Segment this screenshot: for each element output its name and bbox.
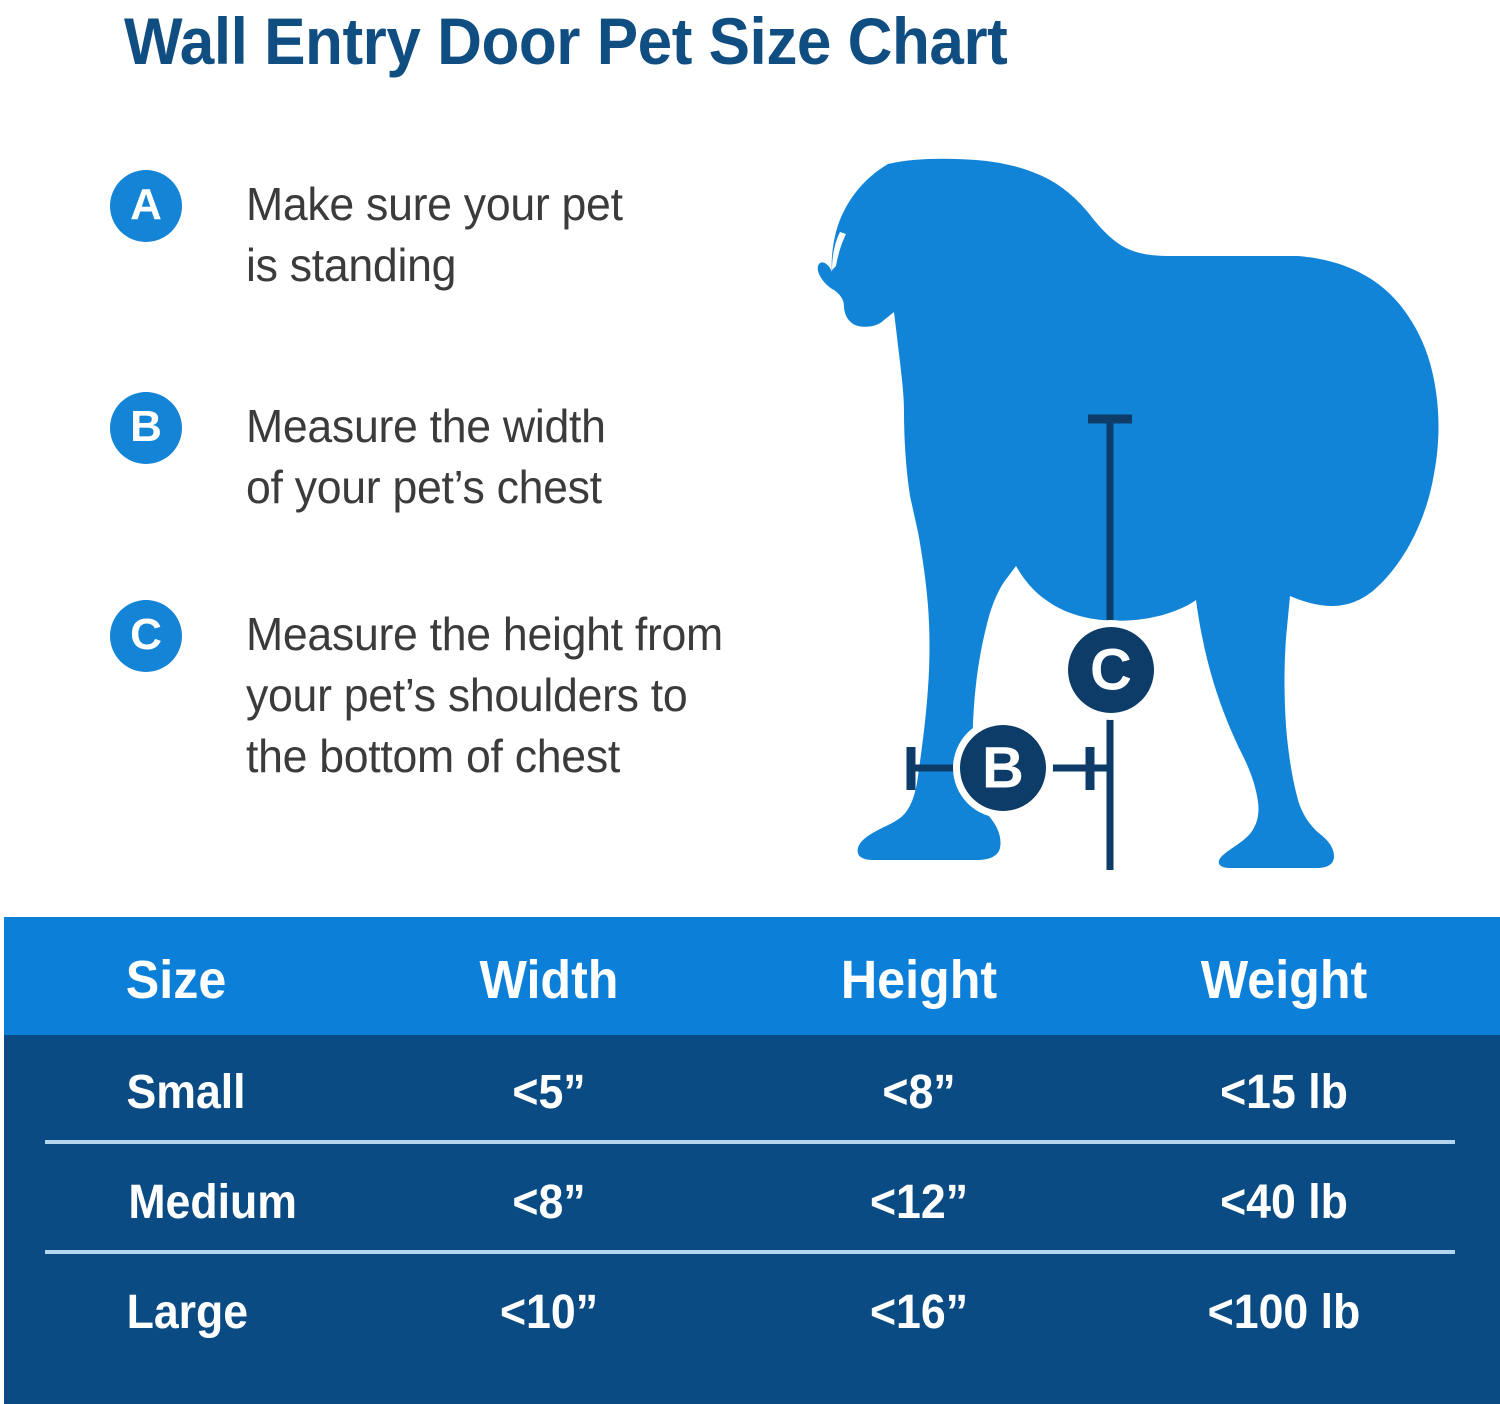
- step-badge-a-letter: A: [130, 183, 162, 227]
- table-header-height: Height: [793, 953, 1044, 1007]
- marker-c: C: [1061, 620, 1161, 720]
- step-badge-b-letter: B: [130, 405, 162, 449]
- table-cell-size: Large: [127, 1289, 249, 1337]
- table-cell-width: <8”: [423, 1179, 674, 1227]
- table-row: Medium <8” <12” <40 lb: [4, 1145, 1500, 1255]
- table-cell-height: <12”: [793, 1179, 1044, 1227]
- instruction-step-a-text: Make sure your pet is standing: [246, 174, 623, 296]
- table-cell-height: <16”: [793, 1289, 1044, 1337]
- table-row-divider: [45, 1250, 1455, 1254]
- table-header-weight: Weight: [1154, 953, 1414, 1007]
- step-badge-c-icon: C: [110, 600, 182, 672]
- table-cell-weight: <40 lb: [1154, 1179, 1414, 1227]
- table-cell-weight: <15 lb: [1154, 1069, 1414, 1117]
- instruction-step-a: A Make sure your pet is standing: [110, 170, 634, 296]
- marker-b: B: [953, 718, 1053, 818]
- pet-size-table: Size Width Height Weight Small <5” <8” <…: [4, 917, 1500, 1404]
- table-cell-height: <8”: [793, 1069, 1044, 1117]
- page-title: Wall Entry Door Pet Size Chart: [124, 2, 1007, 80]
- table-row: Small <5” <8” <15 lb: [4, 1035, 1500, 1145]
- instruction-step-b-text: Measure the width of your pet’s chest: [246, 396, 606, 518]
- table-row-divider: [45, 1140, 1455, 1144]
- table-cell-width: <10”: [423, 1289, 674, 1337]
- marker-c-label: C: [1090, 638, 1132, 703]
- table-header-width: Width: [423, 953, 674, 1007]
- instruction-step-c-text: Measure the height from your pet’s shoul…: [246, 604, 723, 787]
- table-cell-size: Medium: [128, 1179, 297, 1227]
- step-badge-c-letter: C: [130, 613, 162, 657]
- marker-b-label: B: [982, 736, 1024, 801]
- pet-measurement-illustration: C B: [800, 140, 1500, 870]
- step-badge-b-icon: B: [110, 392, 182, 464]
- instruction-step-c: C Measure the height from your pet’s sho…: [110, 600, 738, 787]
- table-header-row: Size Width Height Weight: [4, 917, 1500, 1035]
- table-cell-size: Small: [126, 1069, 245, 1117]
- table-cell-width: <5”: [423, 1069, 674, 1117]
- step-badge-a-icon: A: [110, 170, 182, 242]
- table-header-size: Size: [126, 953, 226, 1007]
- table-row: Large <10” <16” <100 lb: [4, 1255, 1500, 1365]
- table-cell-weight: <100 lb: [1154, 1289, 1414, 1337]
- instruction-step-b: B Measure the width of your pet’s chest: [110, 392, 617, 518]
